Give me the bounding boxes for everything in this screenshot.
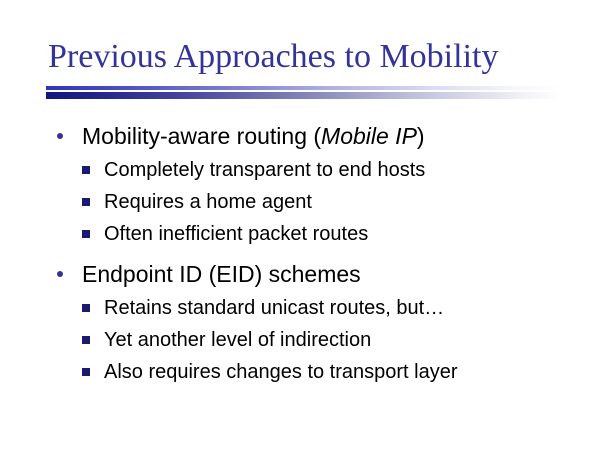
bullet-level1-text-italic: Mobile IP (321, 123, 417, 149)
bullet-level1-text-prefix: Endpoint ID (EID) schemes (82, 261, 361, 287)
bullet-level2: Completely transparent to end hosts (0, 154, 600, 186)
bullet-level2: Often inefficient packet routes (0, 218, 600, 250)
title-divider (46, 86, 560, 99)
bullet-square-icon (82, 198, 90, 206)
bullet-level2-label: Often inefficient packet routes (104, 223, 368, 245)
bullet-level1: Mobility-aware routing (Mobile IP) (0, 118, 600, 154)
bullet-level1: Endpoint ID (EID) schemes (0, 256, 600, 292)
bullet-level2: Yet another level of indirection (0, 324, 600, 356)
bullet-level1-text-prefix: Mobility-aware routing ( (82, 123, 321, 149)
bullet-level2: Also requires changes to transport layer (0, 356, 600, 388)
slide-body: Mobility-aware routing (Mobile IP) Compl… (0, 118, 600, 388)
bullet-level2-label: Completely transparent to end hosts (104, 159, 425, 181)
bullet-level2-label: Retains standard unicast routes, but… (104, 297, 444, 319)
bullet-level1-text-suffix: ) (417, 123, 425, 149)
bullet-level2-label: Also requires changes to transport layer (104, 361, 458, 383)
bullet-level2: Requires a home agent (0, 186, 600, 218)
bullet-level2-label: Requires a home agent (104, 191, 312, 213)
bullet-square-icon (82, 336, 90, 344)
bullet-square-icon (82, 166, 90, 174)
divider-thick-bar (46, 92, 560, 99)
bullet-dot-icon (57, 133, 63, 139)
bullet-square-icon (82, 304, 90, 312)
bullet-dot-icon (57, 271, 63, 277)
slide: Previous Approaches to Mobility Mobility… (0, 0, 600, 450)
bullet-square-icon (82, 230, 90, 238)
bullet-level2-label: Yet another level of indirection (104, 329, 371, 351)
bullet-square-icon (82, 368, 90, 376)
bullet-level2: Retains standard unicast routes, but… (0, 292, 600, 324)
page-title: Previous Approaches to Mobility (48, 36, 568, 78)
